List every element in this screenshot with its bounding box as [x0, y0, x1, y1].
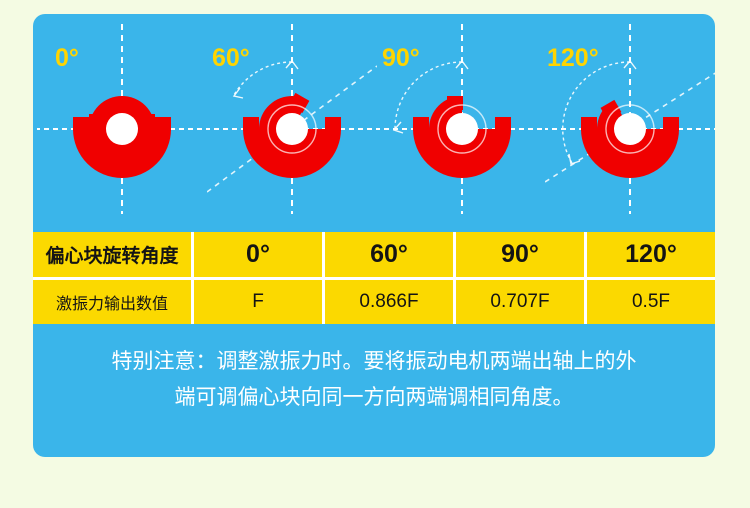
table-row: 激振力输出数值 F 0.866F 0.707F 0.5F: [33, 280, 715, 325]
figure-90deg: 90°: [377, 14, 547, 224]
row-header-rotation-angle: 偏心块旋转角度: [33, 232, 191, 277]
cell-force-90: 0.707F: [456, 280, 584, 325]
cell-force-0: F: [194, 280, 322, 325]
eccentric-block-diagram-strip: 0°: [33, 14, 715, 224]
cell-force-120: 0.5F: [587, 280, 715, 325]
cell-angle-60: 60°: [325, 232, 453, 277]
figure-60deg: 60°: [207, 14, 377, 224]
arc-arrow-head: [569, 154, 580, 164]
shaft-hub: [614, 113, 646, 145]
angle-label-120: 120°: [547, 46, 599, 71]
cell-force-60: 0.866F: [325, 280, 453, 325]
screenshot-root: 0°: [0, 0, 750, 508]
arc-arrow-head: [394, 122, 403, 133]
figure-120deg: 120°: [545, 14, 715, 224]
special-note: 特别注意：调整激振力时。要将振动电机两端出轴上的外 端可调偏心块向同一方向两端调…: [63, 344, 685, 416]
cell-angle-120: 120°: [587, 232, 715, 277]
note-line-1: 特别注意：调整激振力时。要将振动电机两端出轴上的外: [63, 344, 685, 380]
cell-angle-90: 90°: [456, 232, 584, 277]
shaft-hub: [446, 113, 478, 145]
shaft-hub: [106, 113, 138, 145]
angle-label-60: 60°: [212, 46, 250, 71]
info-panel: 0°: [33, 14, 715, 457]
figure-0deg: 0°: [37, 14, 207, 224]
table-row: 偏心块旋转角度 0° 60° 90° 120°: [33, 232, 715, 277]
row-header-output-force: 激振力输出数值: [33, 280, 191, 325]
shaft-hub: [276, 113, 308, 145]
angle-label-0: 0°: [55, 46, 79, 71]
angle-label-90: 90°: [382, 46, 420, 71]
cell-angle-0: 0°: [194, 232, 322, 277]
excitation-force-table: 偏心块旋转角度 0° 60° 90° 120° 激振力输出数值 F 0.866F…: [33, 232, 715, 324]
note-line-2: 端可调偏心块向同一方向两端调相同角度。: [63, 380, 685, 416]
